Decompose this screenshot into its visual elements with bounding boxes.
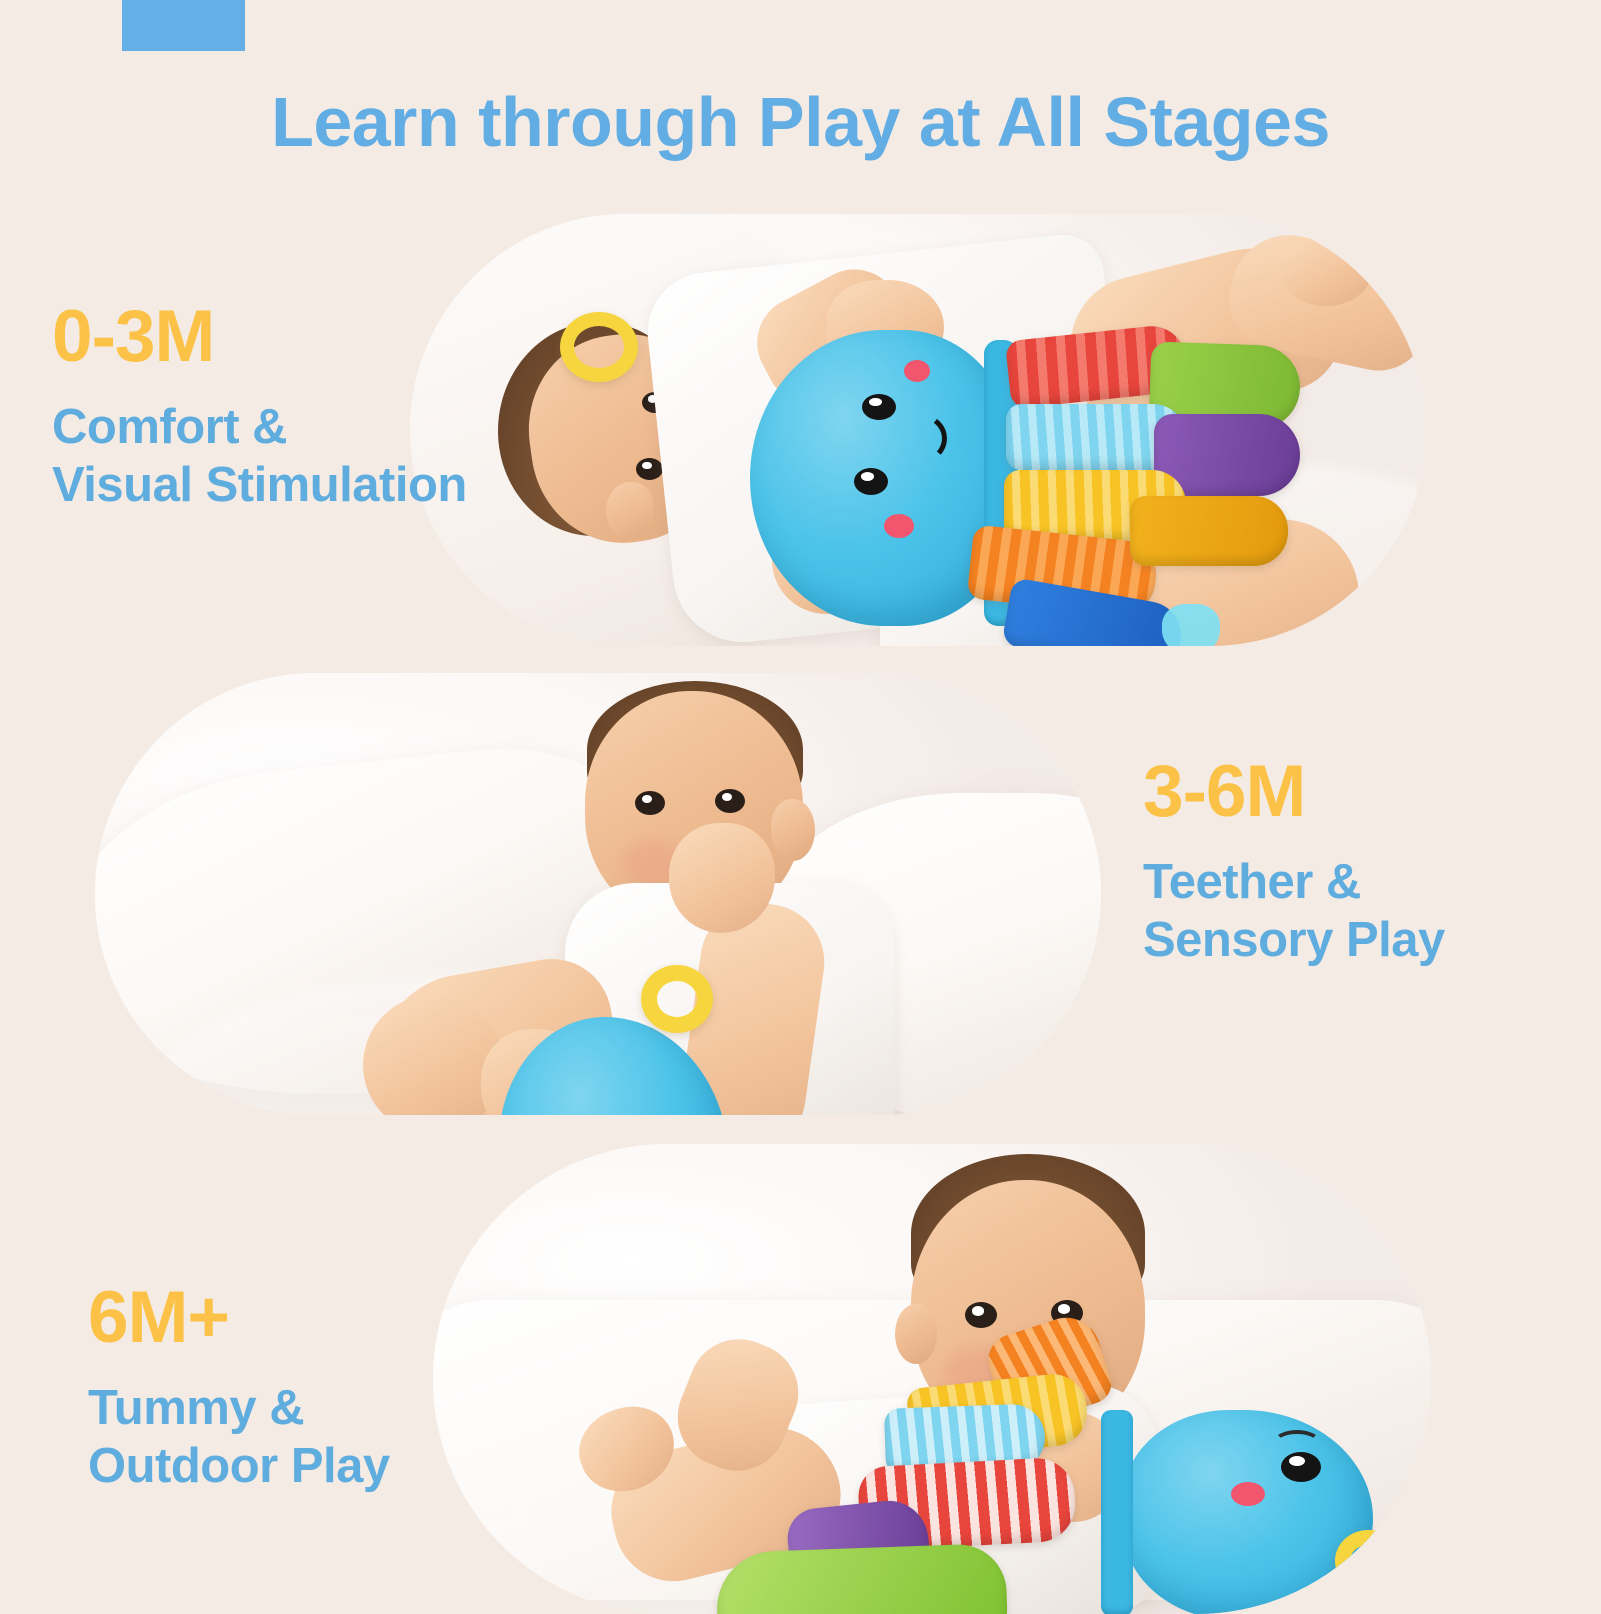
stage-photo-3-6m [95,673,1101,1115]
stage-age-2: 6M+ [88,1281,390,1354]
toy-teether-ring-in-mouth [641,965,713,1033]
stage-desc-2-line2: Outdoor Play [88,1438,390,1496]
stage-label-2: 6M+ Tummy & Outdoor Play [88,1281,390,1496]
photo-scene-baby-teething [95,673,1101,1115]
stage-age-1: 3-6M [1143,755,1445,828]
stage-label-0: 0-3M Comfort & Visual Stimulation [52,300,467,515]
toy-cheek-lower [884,514,914,538]
toy-ruffle [1101,1410,1133,1614]
photo-scene-tummy-time [433,1144,1431,1614]
stage-age-0: 0-3M [52,300,467,373]
toy-tentacle-gold [1130,496,1288,566]
toy-teether-tip [1162,604,1220,646]
baby-eye-right [715,789,745,813]
stage-desc-1: Teether & Sensory Play [1143,854,1445,970]
top-accent-rectangle [122,0,245,51]
baby-ear [771,799,815,861]
baby-ear [606,482,654,540]
baby-hand-to-mouth [669,823,775,933]
baby-eye-left [635,791,665,815]
baby-eye-left [965,1302,997,1328]
stage-desc-2: Tummy & Outdoor Play [88,1380,390,1496]
baby-foot [1280,236,1372,306]
baby-ear [895,1304,937,1364]
stage-desc-1-line1: Teether & [1143,854,1445,912]
page-title: Learn through Play at All Stages [0,82,1601,162]
stage-desc-0-line1: Comfort & [52,399,467,457]
stage-label-1: 3-6M Teether & Sensory Play [1143,755,1445,970]
toy-tentacle-green [715,1543,1009,1614]
stage-desc-0-line2: Visual Stimulation [52,457,467,515]
toy-cheek-upper [904,360,930,382]
stage-desc-2-line1: Tummy & [88,1380,390,1438]
toy-eye-upper [862,394,896,420]
toy-eye [1281,1452,1321,1482]
stage-photo-0-3m [410,214,1426,646]
toy-cheek [1231,1482,1265,1506]
photo-scene-baby-lying-down [410,214,1426,646]
toy-teether-ring [1335,1530,1401,1592]
toy-brow [1273,1430,1321,1456]
toy-eye-lower [854,468,888,495]
stage-photo-6m-plus [433,1144,1431,1614]
stage-desc-1-line2: Sensory Play [1143,912,1445,970]
baby-eye-right [636,458,663,480]
stage-desc-0: Comfort & Visual Stimulation [52,399,467,515]
toy-teether-ring [560,312,638,382]
